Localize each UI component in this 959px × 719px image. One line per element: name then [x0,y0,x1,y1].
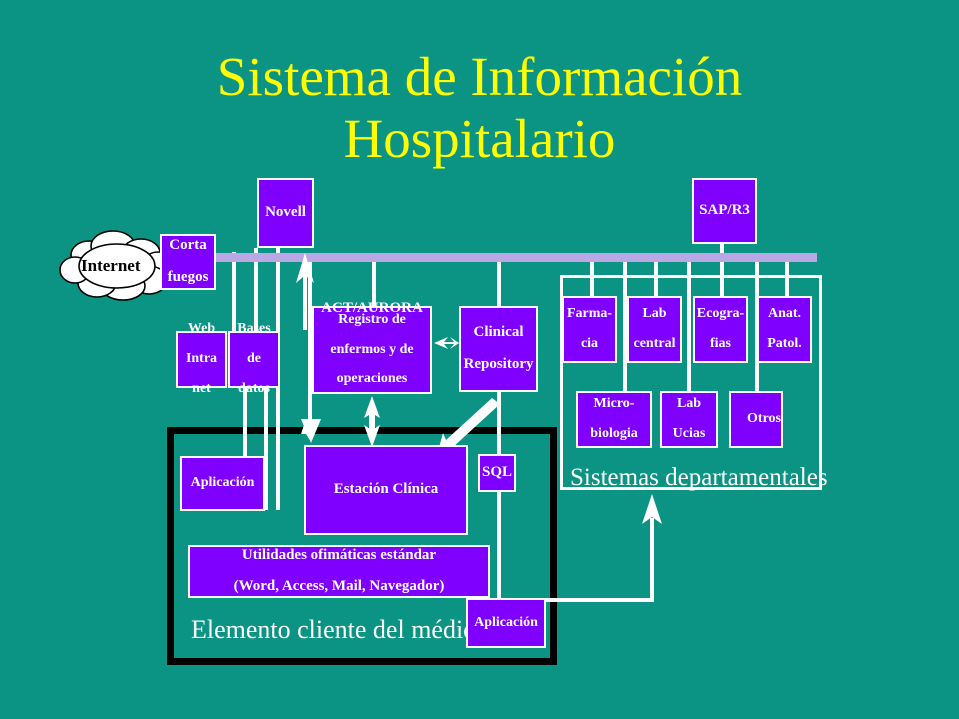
web-intranet-line-3: net [178,382,225,397]
farmacia-line-1: Farma- [564,307,615,322]
farmacia-line-2: cia [564,337,615,352]
wire-repository-to-bus [497,262,501,306]
cortafuegos-line-2: fuegos [162,270,214,286]
node-aplicacion-left[interactable]: Aplicación [180,456,265,511]
utilidades-line-2: (Word, Access, Mail, Navegador) [190,579,488,595]
wire-repository-to-sql [497,392,501,454]
wire-bus-to-labucias [687,262,691,396]
node-cortafuegos[interactable]: Corta fuegos [160,234,216,290]
network-backbone-bus [183,253,817,262]
clinical-repository-line-1: Clinical [461,325,536,341]
novell-label: Novell [259,205,312,221]
title-line-2: Hospitalario [0,108,959,170]
wire-act-to-bus [372,258,376,306]
node-act-aurora[interactable]: Registro de enfermos y de operaciones [312,306,432,394]
departmental-systems-label: Sistemas departamentales [570,464,828,492]
node-utilidades-ofimaticas[interactable]: Utilidades ofimáticas estándar (Word, Ac… [188,545,490,598]
bases-line-3: datos [230,382,278,397]
act-aurora-line-2: enfermos y de [314,343,430,358]
microbiologia-line-2: biologia [578,427,650,442]
node-sap-r3[interactable]: SAP/R3 [692,178,757,244]
aplicacion-left-label: Aplicación [182,476,263,491]
internet-cloud-label: Internet [81,256,140,276]
node-microbiologia[interactable]: Micro- biologia [576,391,652,448]
bases-line-2: de [230,352,278,367]
web-intranet-line-2: Intra [178,352,225,367]
wire-novell-to-webintranet [232,252,236,332]
anat-patol-line-1: Anat. [759,307,810,322]
node-otros[interactable]: Otros [729,391,783,448]
diagram-canvas: Sistema de Información Hospitalario [0,0,959,719]
otros-label-text: Otros [747,412,781,427]
node-aplicacion-bottom[interactable]: Aplicación [466,598,546,648]
node-lab-ucias[interactable]: Lab Ucias [660,391,718,448]
lab-ucias-line-2: Ucias [662,427,716,442]
node-clinical-repository[interactable]: Clinical Repository [459,306,538,392]
microbiologia-line-1: Micro- [578,397,650,412]
arrow-aplicacion-to-departamentales-head [642,494,662,524]
bases-line-1: Bases [230,322,278,337]
node-bases-de-datos[interactable]: Bases de datos [228,331,280,388]
web-intranet-line-1: Web [178,322,225,337]
cortafuegos-line-1: Corta [162,238,214,254]
title-line-1: Sistema de Información [0,46,959,108]
ecografias-line-1: Ecogra- [695,307,746,322]
node-anat-patol[interactable]: Anat. Patol. [757,296,812,363]
ecografias-line-2: fias [695,337,746,352]
lab-central-line-2: central [629,337,680,352]
lab-ucias-line-1: Lab [662,397,716,412]
estacion-clinica-label: Estación Clínica [306,482,466,498]
node-ecografias[interactable]: Ecogra- fias [693,296,748,363]
aplicacion-bottom-label: Aplicación [468,616,544,631]
node-sql[interactable]: SQL [478,454,516,492]
lab-central-line-1: Lab [629,307,680,322]
client-element-label: Elemento cliente del médico [191,615,488,645]
node-lab-central[interactable]: Lab central [627,296,682,363]
act-aurora-line-3: operaciones [314,372,430,387]
arrow-act-repository-bidirectional [434,337,459,349]
node-novell[interactable]: Novell [257,178,314,248]
anat-patol-line-2: Patol. [759,337,810,352]
node-web-intranet[interactable]: Web Intra net [176,331,227,388]
sql-label: SQL [480,465,514,481]
arrow-aplicacion-to-departamentales [546,518,652,600]
act-aurora-title: ACT/AURORA [306,300,438,317]
node-farmacia[interactable]: Farma- cia [562,296,617,363]
sap-r3-label: SAP/R3 [694,203,755,219]
utilidades-line-1: Utilidades ofimáticas estándar [190,548,488,564]
page-title: Sistema de Información Hospitalario [0,46,959,170]
wire-sql-down [497,492,501,602]
clinical-repository-line-2: Repository [461,357,536,373]
node-estacion-clinica[interactable]: Estación Clínica [304,445,468,535]
